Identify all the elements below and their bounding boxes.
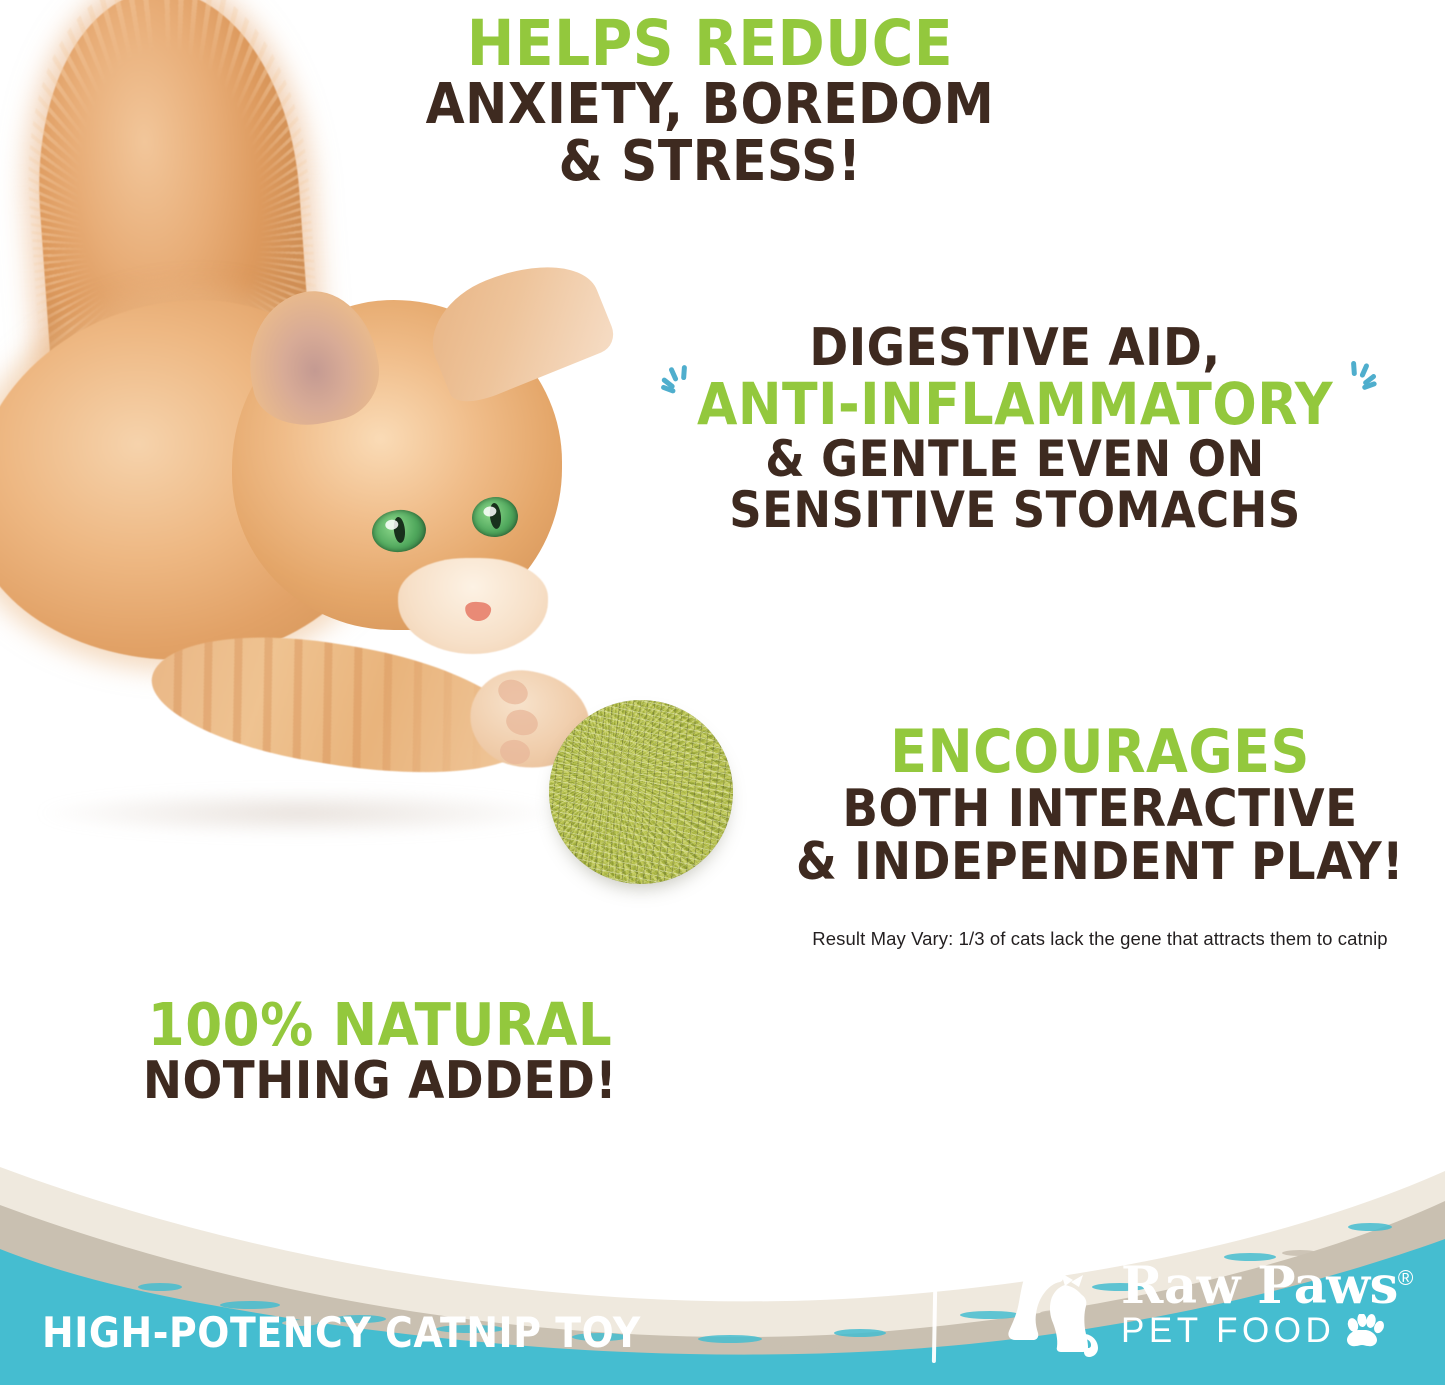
paw-print-icon [1345, 1314, 1385, 1348]
brand-name-text: Raw Paws [1121, 1256, 1398, 1316]
benefit-reduce-line-3: & STRESS! [420, 133, 1000, 190]
benefit-digestive: DIGESTIVE AID, ANTI-INFLAMMATORY & GENTL… [645, 322, 1385, 536]
sparkle-icon [1329, 360, 1381, 420]
brand-subtitle: PET FOOD [1121, 1313, 1335, 1348]
benefit-digestive-line-2: ANTI-INFLAMMATORY [645, 375, 1385, 434]
product-infographic: HELPS REDUCE ANXIETY, BOREDOM & STRESS! … [0, 0, 1445, 1385]
catnip-ball [549, 700, 733, 884]
benefit-natural-line-2: NOTHING ADDED! [110, 1055, 650, 1108]
benefit-natural: 100% NATURAL NOTHING ADDED! [110, 995, 650, 1108]
brand-logo: Raw Paws® PET FOOD [1003, 1251, 1413, 1359]
benefit-encourages-line-1: ENCOURAGES [795, 722, 1405, 783]
brand-subtitle-row: PET FOOD [1121, 1313, 1413, 1348]
benefit-encourages-line-2: BOTH INTERACTIVE [795, 783, 1405, 836]
benefit-natural-line-1: 100% NATURAL [110, 995, 650, 1055]
benefit-digestive-line-1: DIGESTIVE AID, [645, 322, 1385, 375]
registered-trademark-icon: ® [1398, 1267, 1413, 1290]
floor-shadow [40, 790, 560, 836]
benefit-digestive-line-3: & GENTLE EVEN ON [645, 434, 1385, 485]
benefit-reduce-line-2: ANXIETY, BOREDOM [420, 76, 1000, 133]
dog-and-cat-silhouette-icon [1003, 1251, 1107, 1359]
benefit-reduce-line-1: HELPS REDUCE [420, 12, 1000, 76]
kitten-ear-right [416, 243, 619, 411]
footer-tagline: HIGH-POTENCY CATNIP TOY [42, 1308, 641, 1357]
sparkle-icon [656, 364, 708, 424]
benefit-encourages-line-3: & INDEPENDENT PLAY! [795, 836, 1405, 889]
benefit-reduce: HELPS REDUCE ANXIETY, BOREDOM & STRESS! [420, 12, 1000, 190]
brand-name: Raw Paws® [1121, 1262, 1413, 1311]
brand-text: Raw Paws® PET FOOD [1121, 1262, 1413, 1349]
benefit-encourages: ENCOURAGES BOTH INTERACTIVE & INDEPENDEN… [795, 722, 1405, 889]
catnip-disclaimer: Result May Vary: 1/3 of cats lack the ge… [795, 928, 1405, 950]
benefit-digestive-line-4: SENSITIVE STOMACHS [645, 485, 1385, 536]
